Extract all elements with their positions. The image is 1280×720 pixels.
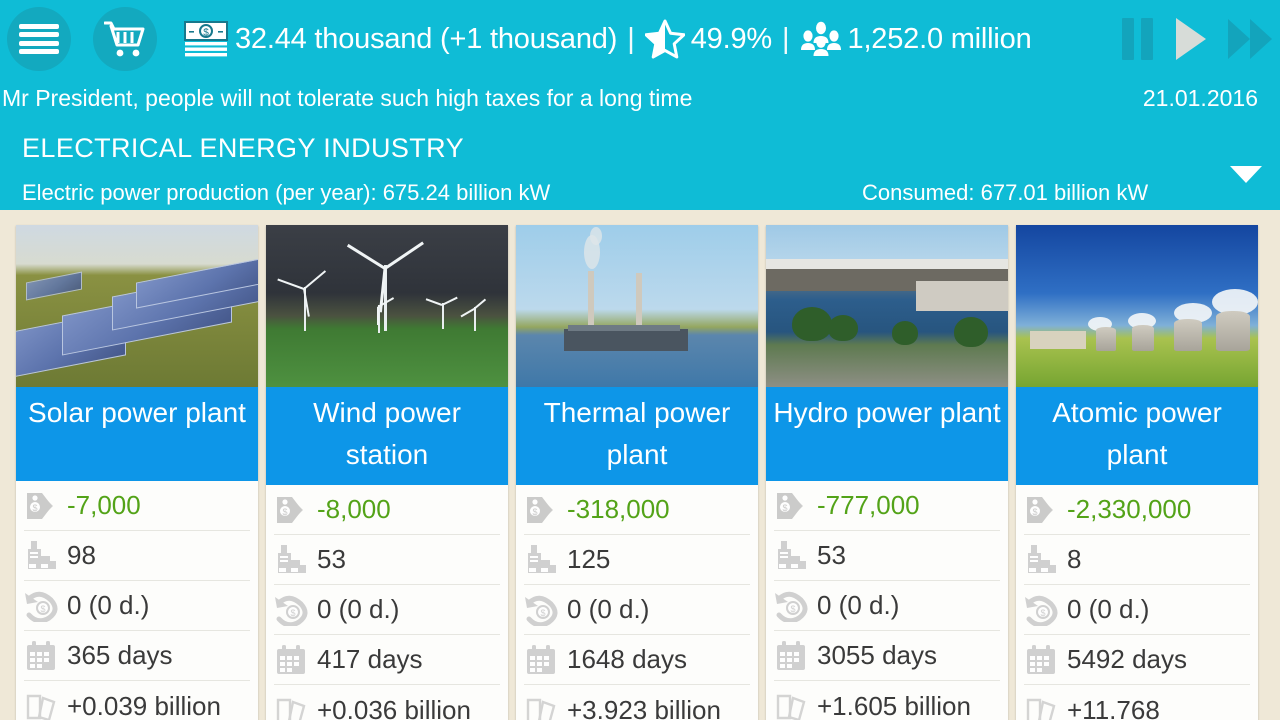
fast-forward-icon[interactable] [1228, 19, 1272, 59]
table-row: 365 days [24, 631, 250, 681]
svg-text:$: $ [290, 608, 295, 618]
documents-icon [524, 694, 558, 720]
price-tag-dollar-icon: $ [524, 494, 558, 526]
table-row: 3055 days [774, 631, 1000, 681]
production-summary: Electric power production (per year): 67… [22, 180, 550, 206]
factory-buildings-icon [774, 540, 808, 572]
rating-stat: 49.9% [645, 19, 772, 59]
card-title: Wind power station [266, 387, 508, 485]
documents-icon [1024, 694, 1058, 720]
row-value: 0 (0 d.) [67, 590, 149, 621]
nuclear-cooling-towers-photo [1016, 225, 1258, 387]
table-row: +1.605 billion [774, 681, 1000, 720]
power-plant-card[interactable]: Solar power plant $ -7,000 98 $ 0 (0 d.)… [16, 225, 258, 720]
crowd-people-icon [800, 21, 842, 57]
money-stat: $ 32.44 thousand (+1 thousand) [183, 20, 617, 58]
calendar-icon [274, 644, 308, 676]
population-value: 1,252.0 million [848, 23, 1032, 56]
solar-panels-photo [16, 225, 258, 387]
table-row: $ 0 (0 d.) [274, 585, 500, 635]
advisor-message-bar: Mr President, people will not tolerate s… [0, 78, 1280, 118]
row-value: +0.039 billion [67, 691, 221, 720]
row-value: 98 [67, 540, 96, 571]
row-value: 365 days [67, 640, 173, 671]
factory-buildings-icon [24, 540, 58, 572]
card-stats: $ -7,000 98 $ 0 (0 d.) 365 days +0. [16, 481, 258, 720]
hydro-dam-photo [766, 225, 1008, 387]
card-stats: $ -318,000 125 $ 0 (0 d.) 1648 days [516, 485, 758, 720]
row-value: 1648 days [567, 644, 687, 675]
table-row: $ -7,000 [24, 481, 250, 531]
row-value: -318,000 [567, 494, 670, 525]
game-date: 21.01.2016 [1143, 85, 1258, 112]
row-value: +1.605 billion [817, 691, 971, 720]
calendar-icon [1024, 644, 1058, 676]
factory-buildings-icon [1024, 544, 1058, 576]
row-value: 0 (0 d.) [317, 594, 399, 625]
table-row: +0.036 billion [274, 685, 500, 720]
row-value: 125 [567, 544, 610, 575]
table-row: $ 0 (0 d.) [1024, 585, 1250, 635]
documents-icon [24, 690, 58, 720]
documents-icon [274, 694, 308, 720]
table-row: $ -777,000 [774, 481, 1000, 531]
money-return-arrow-icon: $ [1024, 594, 1058, 626]
table-row: 98 [24, 531, 250, 581]
row-value: +3.923 billion [567, 695, 721, 720]
power-plant-card[interactable]: Wind power station $ -8,000 53 $ 0 (0 d.… [266, 225, 508, 720]
population-stat: 1,252.0 million [800, 21, 1032, 57]
industry-header: ELECTRICAL ENERGY INDUSTRY Electric powe… [0, 118, 1280, 210]
stat-divider-2: | [782, 23, 790, 56]
svg-text:$: $ [532, 507, 537, 517]
row-value: -7,000 [67, 490, 141, 521]
card-title: Atomic power plant [1016, 387, 1258, 485]
rating-value: 49.9% [691, 23, 772, 56]
svg-text:$: $ [282, 507, 287, 517]
row-value: 0 (0 d.) [817, 590, 899, 621]
chevron-down-icon[interactable] [1230, 166, 1262, 183]
row-value: 0 (0 d.) [567, 594, 649, 625]
svg-text:$: $ [1040, 608, 1045, 618]
table-row: $ -8,000 [274, 485, 500, 535]
table-row: +3.923 billion [524, 685, 750, 720]
card-stats: $ -777,000 53 $ 0 (0 d.) 3055 days [766, 481, 1008, 720]
resource-stats: $ 32.44 thousand (+1 thousand) | [183, 19, 1032, 59]
half-star-icon [645, 19, 685, 59]
row-value: 0 (0 d.) [1067, 594, 1149, 625]
svg-text:$: $ [1032, 507, 1037, 517]
price-tag-dollar-icon: $ [24, 490, 58, 522]
wind-turbines-photo [266, 225, 508, 387]
banknotes-icon: $ [183, 20, 229, 58]
shopping-cart-icon [104, 20, 146, 58]
money-return-arrow-icon: $ [524, 594, 558, 626]
thermal-plant-photo [516, 225, 758, 387]
table-row: 53 [274, 535, 500, 585]
table-row: 8 [1024, 535, 1250, 585]
row-value: 5492 days [1067, 644, 1187, 675]
row-value: 417 days [317, 644, 423, 675]
table-row: $ -318,000 [524, 485, 750, 535]
card-title: Hydro power plant [766, 387, 1008, 481]
row-value: +0.036 billion [317, 695, 471, 720]
shop-button[interactable] [93, 7, 157, 71]
table-row: $ 0 (0 d.) [774, 581, 1000, 631]
table-row: +0.039 billion [24, 681, 250, 720]
row-value: -2,330,000 [1067, 494, 1191, 525]
row-value: -8,000 [317, 494, 391, 525]
svg-text:$: $ [40, 604, 45, 614]
card-stats: $ -2,330,000 8 $ 0 (0 d.) 5492 days [1016, 485, 1258, 720]
table-row: 1648 days [524, 635, 750, 685]
svg-text:$: $ [203, 28, 209, 39]
money-value: 32.44 thousand (+1 thousand) [235, 23, 617, 56]
row-value: 53 [317, 544, 346, 575]
table-row: 125 [524, 535, 750, 585]
row-value: +11.768 [1067, 695, 1160, 720]
play-icon[interactable] [1176, 18, 1206, 60]
factory-buildings-icon [524, 544, 558, 576]
table-row: 5492 days [1024, 635, 1250, 685]
factory-buildings-icon [274, 544, 308, 576]
table-row: 417 days [274, 635, 500, 685]
price-tag-dollar-icon: $ [774, 490, 808, 522]
power-plant-card[interactable]: Hydro power plant $ -777,000 53 $ 0 (0 d… [766, 225, 1008, 720]
consumed-summary: Consumed: 677.01 billion kW [862, 180, 1148, 206]
price-tag-dollar-icon: $ [1024, 494, 1058, 526]
table-row: $ 0 (0 d.) [524, 585, 750, 635]
card-stats: $ -8,000 53 $ 0 (0 d.) 417 days +0. [266, 485, 508, 720]
card-title: Solar power plant [16, 387, 258, 481]
svg-text:$: $ [540, 608, 545, 618]
svg-text:$: $ [782, 503, 787, 513]
table-row: $ 0 (0 d.) [24, 581, 250, 631]
power-plant-card[interactable]: Thermal power plant $ -318,000 125 $ 0 (… [516, 225, 758, 720]
row-value: 53 [817, 540, 846, 571]
money-return-arrow-icon: $ [24, 590, 58, 622]
power-plant-card-grid: Solar power plant $ -7,000 98 $ 0 (0 d.)… [0, 225, 1280, 720]
page-title: ELECTRICAL ENERGY INDUSTRY [22, 133, 464, 164]
table-row: $ -2,330,000 [1024, 485, 1250, 535]
pause-icon[interactable] [1122, 18, 1154, 60]
money-return-arrow-icon: $ [274, 594, 308, 626]
row-value: 8 [1067, 544, 1081, 575]
calendar-icon [774, 640, 808, 672]
row-value: -777,000 [817, 490, 920, 521]
documents-icon [774, 690, 808, 720]
svg-text:$: $ [32, 503, 37, 513]
svg-text:$: $ [790, 604, 795, 614]
hamburger-menu-icon [19, 24, 59, 54]
money-return-arrow-icon: $ [774, 590, 808, 622]
menu-button[interactable] [7, 7, 71, 71]
stat-divider: | [627, 23, 635, 56]
card-title: Thermal power plant [516, 387, 758, 485]
table-row: +11.768 [1024, 685, 1250, 720]
game-screen: $ 32.44 thousand (+1 thousand) | [0, 0, 1280, 720]
advisor-message: Mr President, people will not tolerate s… [2, 85, 692, 112]
power-plant-card[interactable]: Atomic power plant $ -2,330,000 8 $ 0 (0… [1016, 225, 1258, 720]
top-status-bar: $ 32.44 thousand (+1 thousand) | [0, 0, 1280, 78]
row-value: 3055 days [817, 640, 937, 671]
calendar-icon [524, 644, 558, 676]
game-speed-controls [1122, 18, 1272, 60]
price-tag-dollar-icon: $ [274, 494, 308, 526]
calendar-icon [24, 640, 58, 672]
table-row: 53 [774, 531, 1000, 581]
